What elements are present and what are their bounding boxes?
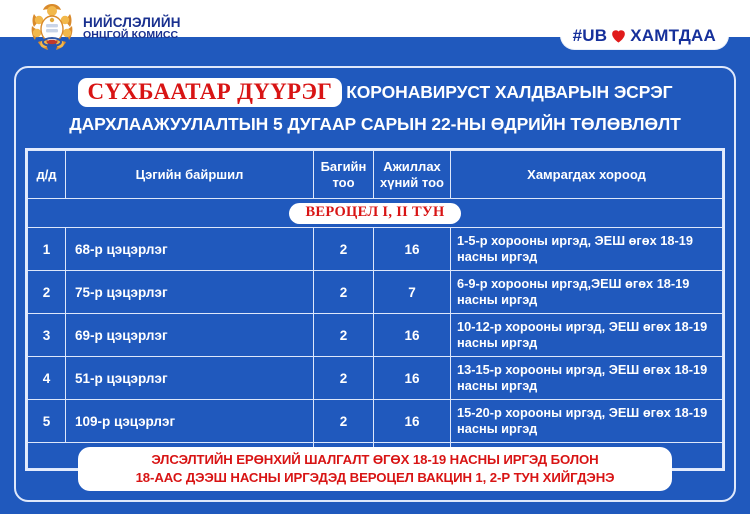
section-label-badge: ВЕРОЦЕЛ I, II ТУН [289, 203, 460, 224]
org-name-line1: НИЙСЛЭЛИЙН [83, 16, 181, 30]
section-row-cell: ВЕРОЦЕЛ I, II ТУН [28, 199, 723, 228]
row-location: 69-р цэцэрлэг [66, 314, 314, 357]
row-teams: 2 [314, 357, 374, 400]
table-row: 4 51-р цэцэрлэг 2 16 13-15-р хорооны ирг… [28, 357, 723, 400]
col-header-staff: Ажиллах хүний тоо [374, 151, 451, 199]
hashtag-suffix: ХАМТДАА [630, 26, 716, 46]
row-location: 75-р цэцэрлэг [66, 271, 314, 314]
table-row: 1 68-р цэцэрлэг 2 16 1-5-р хорооны иргэд… [28, 228, 723, 271]
title-line-2: ДАРХЛААЖУУЛАЛТЫН 5 ДУГААР САРЫН 22-НЫ ӨД… [28, 114, 722, 135]
title-line1-rest: КОРОНАВИРУСТ ХАЛДВАРЫН ЭСРЭГ [346, 82, 672, 103]
footer-line-2: 18-ААС ДЭЭШ НАСНЫ ИРГЭДЭД ВЕРОЦЕЛ ВАКЦИН… [86, 469, 664, 486]
row-khoroos: 6-9-р хорооны иргэд,ЭЕШ өгөх 18-19 насны… [451, 271, 723, 314]
row-staff: 16 [374, 400, 451, 443]
row-khoroos: 10-12-р хорооны иргэд, ЭЕШ өгөх 18-19 на… [451, 314, 723, 357]
table-row: 5 109-р цэцэрлэг 2 16 15-20-р хорооны ир… [28, 400, 723, 443]
table-header-row: д/д Цэгийн байршил Багийн тоо Ажиллах хү… [28, 151, 723, 199]
heart-icon [609, 26, 628, 45]
row-teams: 2 [314, 271, 374, 314]
row-teams: 2 [314, 400, 374, 443]
main-panel: СҮХБААТАР ДҮҮРЭГ КОРОНАВИРУСТ ХАЛДВАРЫН … [14, 66, 736, 502]
row-index: 3 [28, 314, 66, 357]
row-staff: 16 [374, 357, 451, 400]
hashtag-badge: #UB ХАМТДАА [561, 22, 728, 49]
row-location: 51-р цэцэрлэг [66, 357, 314, 400]
row-location: 109-р цэцэрлэг [66, 400, 314, 443]
row-teams: 2 [314, 314, 374, 357]
table-body: ВЕРОЦЕЛ I, II ТУН 1 68-р цэцэрлэг 2 16 1… [28, 199, 723, 469]
row-khoroos: 13-15-р хорооны иргэд, ЭЕШ өгөх 18-19 на… [451, 357, 723, 400]
row-index: 1 [28, 228, 66, 271]
row-location: 68-р цэцэрлэг [66, 228, 314, 271]
table-row: 3 69-р цэцэрлэг 2 16 10-12-р хорооны ирг… [28, 314, 723, 357]
row-staff: 7 [374, 271, 451, 314]
col-header-teams: Багийн тоо [314, 151, 374, 199]
col-header-index: д/д [28, 151, 66, 199]
district-name-badge: СҮХБААТАР ДҮҮРЭГ [78, 78, 343, 107]
schedule-table: д/д Цэгийн байршил Багийн тоо Ажиллах хү… [27, 150, 723, 469]
row-khoroos: 1-5-р хорооны иргэд, ЭЕШ өгөх 18-19 насн… [451, 228, 723, 271]
footer-notice-banner: ЭЛСЭЛТИЙН ЕРӨНХИЙ ШАЛГАЛТ ӨГӨХ 18-19 НАС… [78, 447, 672, 491]
section-row-verocel: ВЕРОЦЕЛ I, II ТУН [28, 199, 723, 228]
col-header-khoroos: Хамрагдах хороод [451, 151, 723, 199]
row-index: 4 [28, 357, 66, 400]
title-area: СҮХБААТАР ДҮҮРЭГ КОРОНАВИРУСТ ХАЛДВАРЫН … [16, 68, 734, 139]
row-staff: 16 [374, 314, 451, 357]
title-line-1: СҮХБААТАР ДҮҮРЭГ КОРОНАВИРУСТ ХАЛДВАРЫН … [28, 78, 722, 107]
organization-logo: НИЙСЛЭЛИЙН ОНЦГОЙ КОМИСС [28, 2, 181, 52]
table-row: 2 75-р цэцэрлэг 2 7 6-9-р хорооны иргэд,… [28, 271, 723, 314]
row-staff: 16 [374, 228, 451, 271]
row-index: 5 [28, 400, 66, 443]
row-index: 2 [28, 271, 66, 314]
col-header-location: Цэгийн байршил [66, 151, 314, 199]
mongolia-ulaanbaatar-coat-of-arms-icon [28, 2, 76, 52]
row-teams: 2 [314, 228, 374, 271]
schedule-table-wrapper: д/д Цэгийн байршил Багийн тоо Ажиллах хү… [25, 148, 725, 471]
org-name-line2: ОНЦГОЙ КОМИСС [83, 30, 181, 41]
hashtag-prefix: #UB [573, 26, 608, 46]
table-head: д/д Цэгийн байршил Багийн тоо Ажиллах хү… [28, 151, 723, 199]
row-khoroos: 15-20-р хорооны иргэд, ЭЕШ өгөх 18-19 на… [451, 400, 723, 443]
footer-line-1: ЭЛСЭЛТИЙН ЕРӨНХИЙ ШАЛГАЛТ ӨГӨХ 18-19 НАС… [86, 451, 664, 468]
